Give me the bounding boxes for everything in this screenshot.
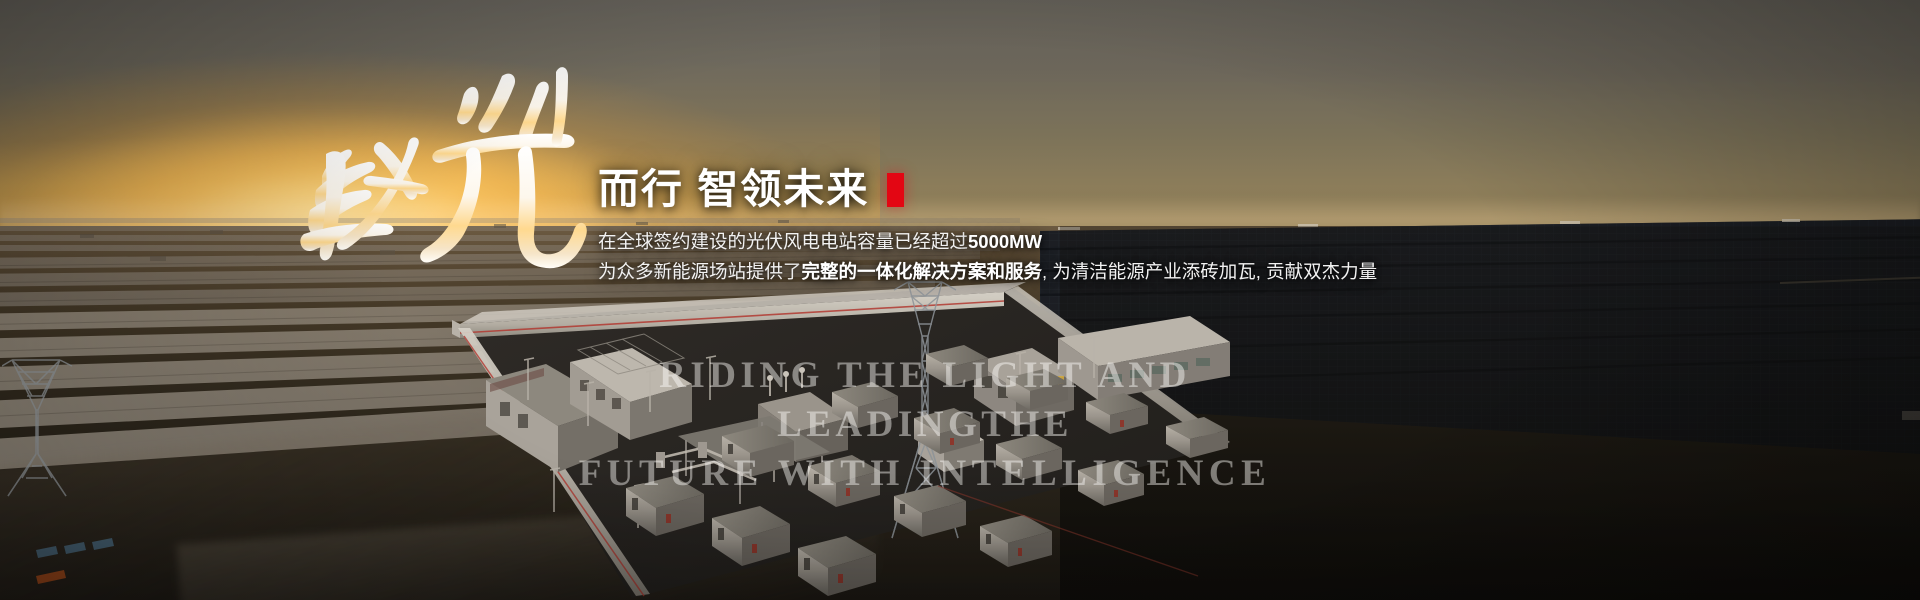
- subtitle-line-2-plain-b: , 为清洁能源产业添砖加瓦, 贡献双杰力量: [1042, 261, 1377, 282]
- headline-text: 而行 智领未来: [598, 168, 869, 211]
- substation-yard: [418, 276, 1238, 600]
- subtitle-line-1: 在全球签约建设的光伏风电电站容量已经超过5000MW: [598, 227, 1498, 257]
- page-title: 而行 智领未来: [598, 168, 1498, 211]
- accent-block: [887, 173, 904, 207]
- ground-markers: [30, 520, 270, 590]
- hero-copy: 而行 智领未来 在全球签约建设的光伏风电电站容量已经超过5000MW 为众多新能…: [598, 168, 1498, 287]
- transmission-tower: [2, 358, 112, 498]
- subtitle-line-2-bold: 完整的一体化解决方案和服务: [802, 261, 1043, 282]
- subtitle-line-2-plain-a: 为众多新能源场站提供了: [598, 261, 802, 282]
- subtitle-line-1-bold: 5000MW: [968, 231, 1042, 252]
- subtitle-line-2: 为众多新能源场站提供了完整的一体化解决方案和服务, 为清洁能源产业添砖加瓦, 贡…: [598, 257, 1498, 287]
- hero-banner: 而行 智领未来 在全球签约建设的光伏风电电站容量已经超过5000MW 为众多新能…: [0, 0, 1920, 600]
- subtitle-line-1-plain: 在全球签约建设的光伏风电电站容量已经超过: [598, 231, 968, 252]
- subtitle-group: 在全球签约建设的光伏风电电站容量已经超过5000MW 为众多新能源场站提供了完整…: [598, 227, 1498, 287]
